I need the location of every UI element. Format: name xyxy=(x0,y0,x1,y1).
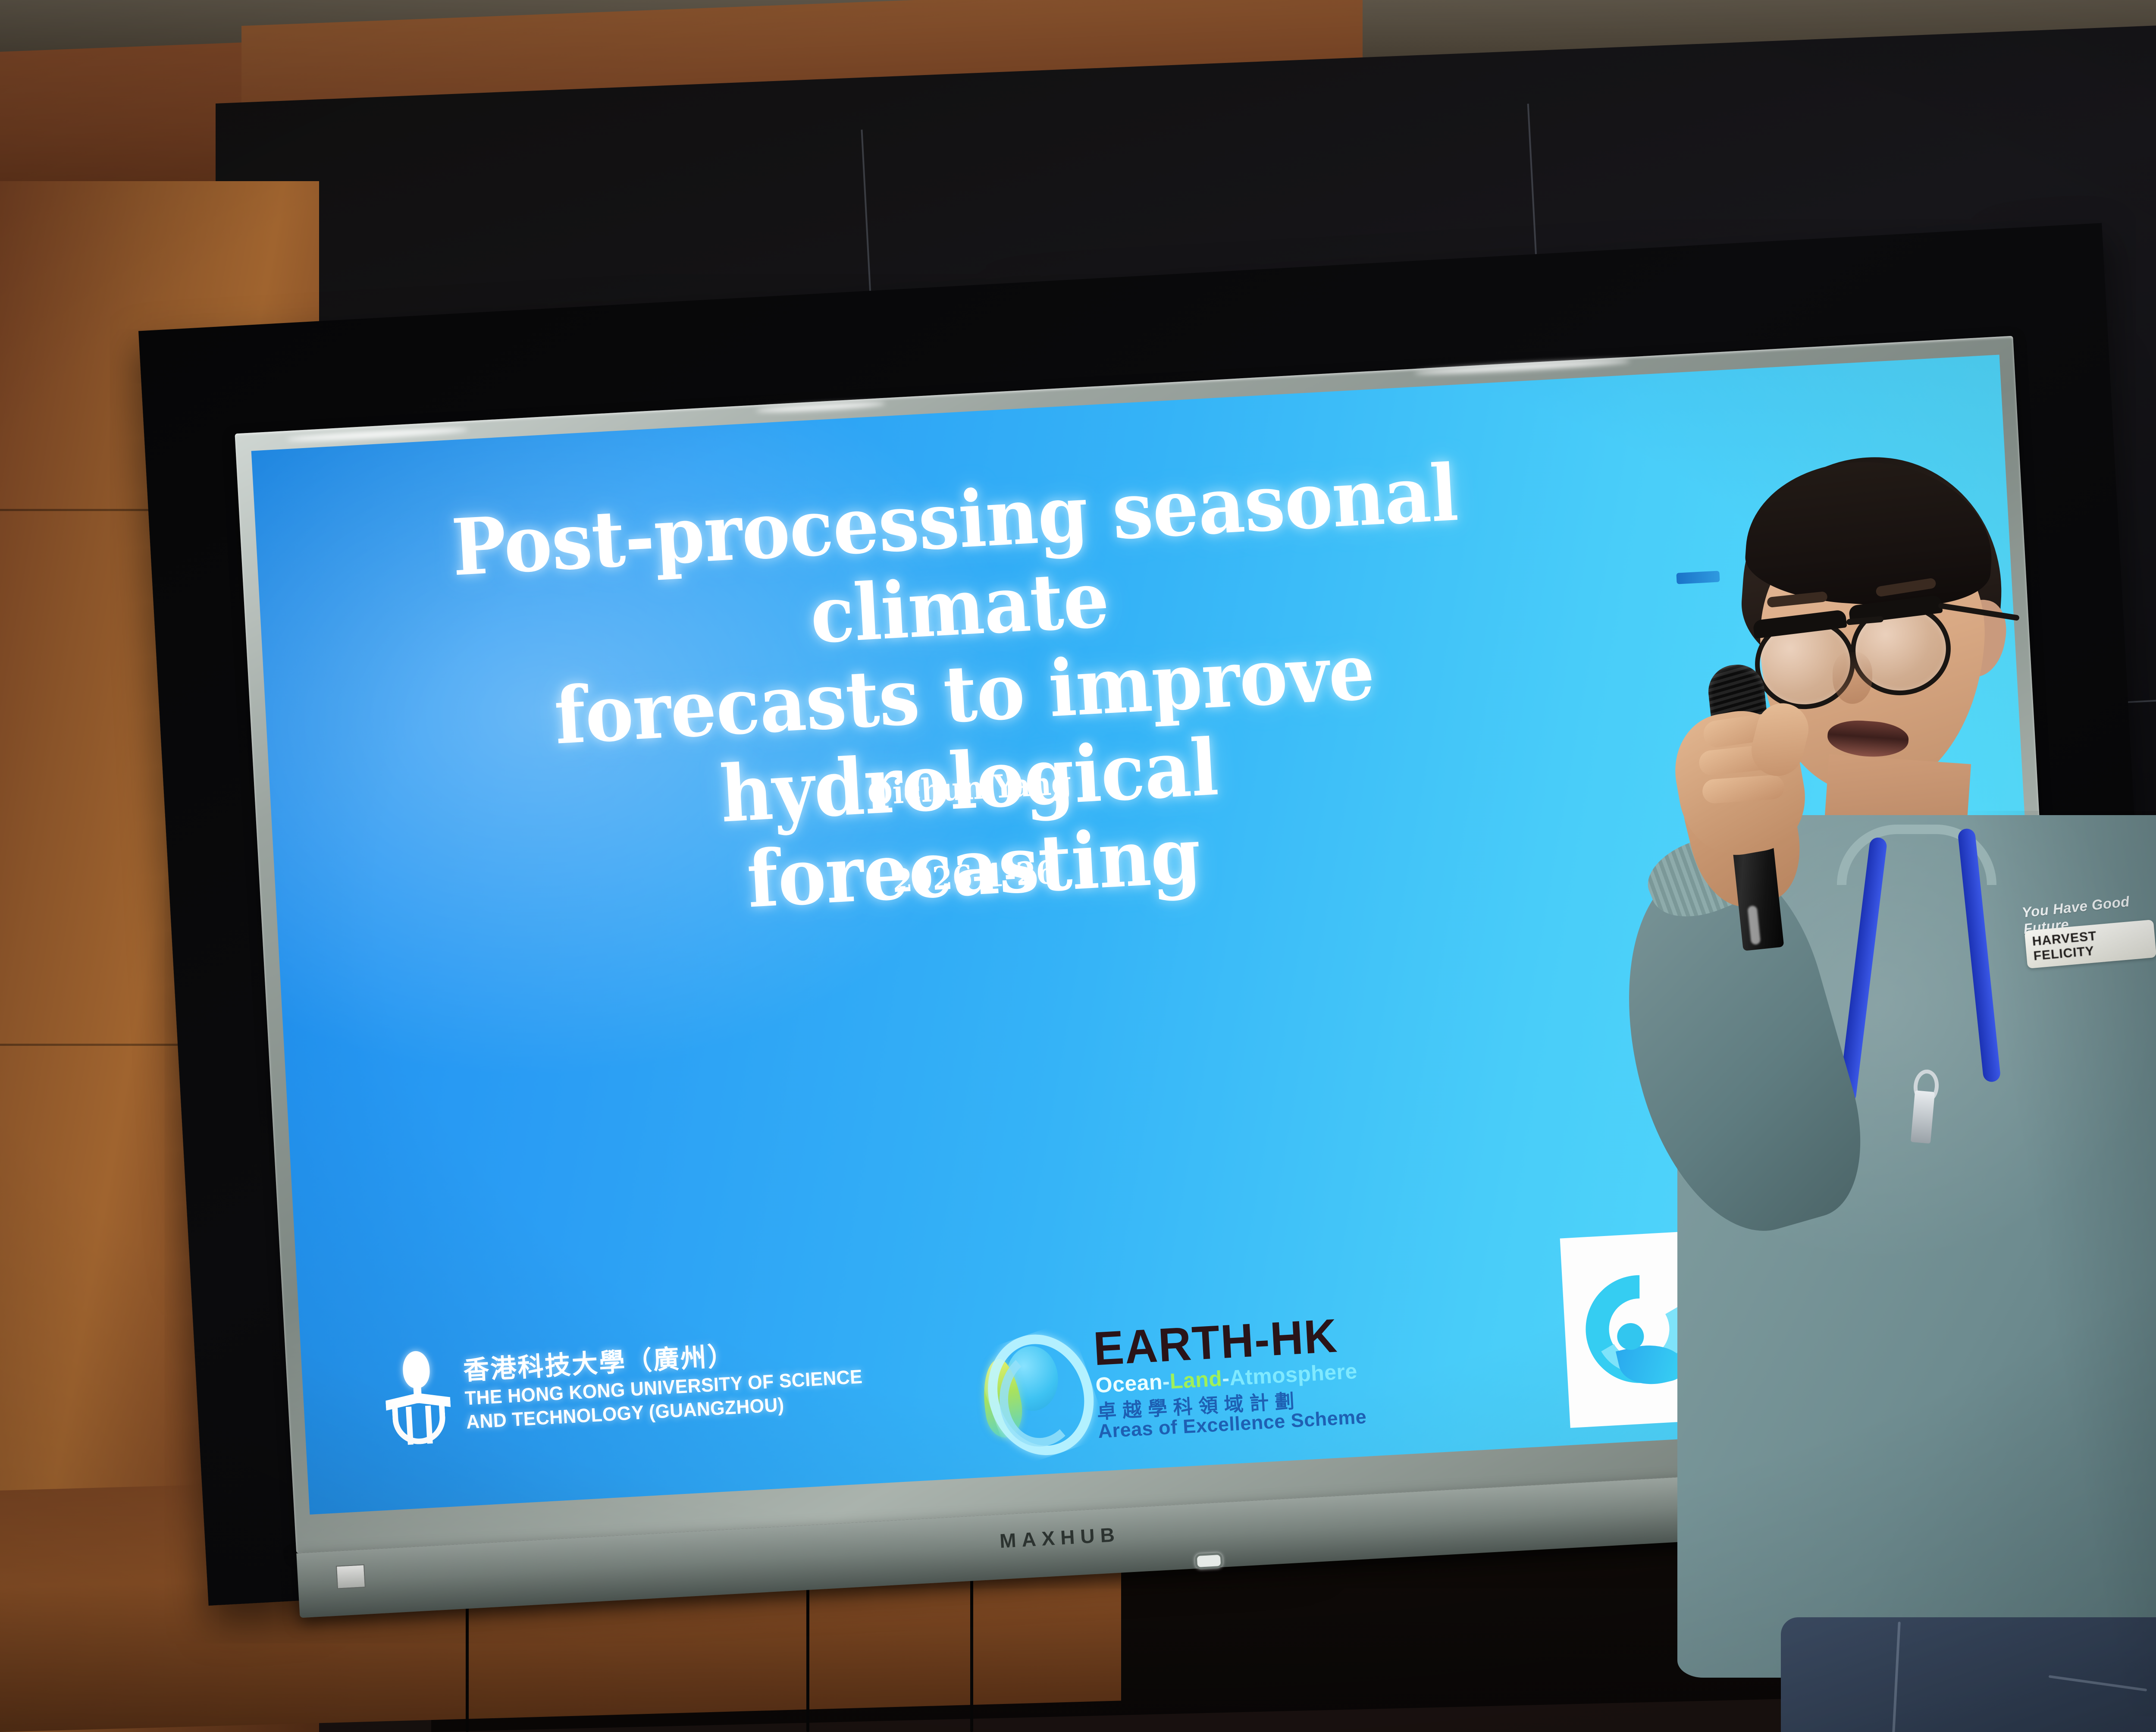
hkust-text-block: 香港科技大學（廣州） THE HONG KONG UNIVERSITY OF S… xyxy=(463,1332,885,1434)
presenter-jeans xyxy=(1781,1617,2156,1732)
presenter-nose xyxy=(1833,652,1872,704)
display-label-sticker xyxy=(336,1564,366,1589)
logo-earth-hk: EARTH-HK Ocean-Land-Atmosphere 卓越學科領域計劃 … xyxy=(973,1311,1367,1447)
cable xyxy=(970,1578,973,1732)
earth-hk-text-block: EARTH-HK Ocean-Land-Atmosphere 卓越學科領域計劃 … xyxy=(1092,1311,1367,1441)
presenter-hair-front xyxy=(1742,454,1998,613)
presenter: You Have Good Future HARVEST FELICITY FU… xyxy=(1651,457,2156,1732)
power-led-indicator xyxy=(1195,1553,1223,1569)
logo-hkust-guangzhou: 香港科技大學（廣州） THE HONG KONG UNIVERSITY OF S… xyxy=(383,1325,886,1445)
microphone-blue-band xyxy=(1676,571,1720,584)
hkust-emblem-icon xyxy=(383,1349,453,1446)
earth-hk-emblem-icon xyxy=(974,1328,1087,1446)
photograph-scene: Post-processing seasonal climate forecas… xyxy=(0,0,2156,1732)
